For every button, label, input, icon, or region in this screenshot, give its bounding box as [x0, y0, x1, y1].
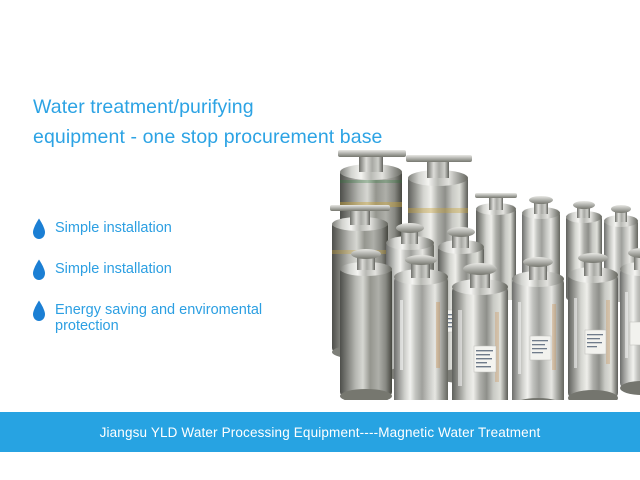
footer-company-text: Jiangsu YLD Water Processing Equipment--…	[100, 425, 541, 440]
list-item: Energy saving and enviromental protectio…	[32, 300, 332, 334]
feature-bullet-list: Simple installation Simple installation …	[32, 218, 332, 334]
list-item: Simple installation	[32, 259, 332, 281]
title-line-2: equipment - one stop procurement base	[33, 122, 363, 152]
list-item-label: Energy saving and enviromental protectio…	[55, 300, 313, 334]
slide-canvas: Water treatment/purifying equipment - on…	[0, 0, 640, 480]
stainless-steel-filter-vessels-photo	[326, 150, 640, 400]
list-item-label: Simple installation	[55, 259, 172, 278]
list-item: Simple installation	[32, 218, 332, 240]
water-drop-icon	[32, 218, 46, 240]
water-drop-icon	[32, 259, 46, 281]
title-line-1: Water treatment/purifying	[33, 92, 363, 122]
water-drop-icon	[32, 300, 46, 322]
page-title: Water treatment/purifying equipment - on…	[33, 92, 363, 152]
footer-bar: Jiangsu YLD Water Processing Equipment--…	[0, 412, 640, 452]
list-item-label: Simple installation	[55, 218, 172, 237]
